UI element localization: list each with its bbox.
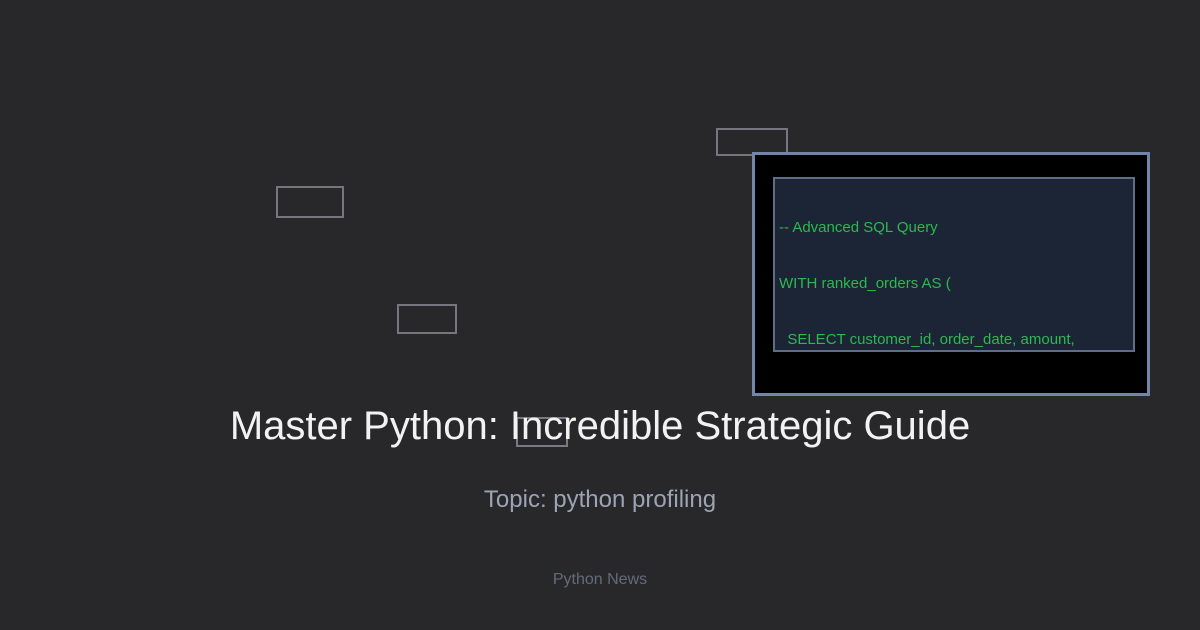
page-subtitle: Topic: python profiling [0, 483, 1200, 517]
page-title: Master Python: Incredible Strategic Guid… [0, 398, 1200, 454]
deco-rect-upper-left [276, 186, 344, 218]
code-line: -- Advanced SQL Query [779, 218, 1135, 238]
code-panel: -- Advanced SQL Query WITH ranked_orders… [773, 177, 1135, 352]
code-window: -- Advanced SQL Query WITH ranked_orders… [752, 152, 1150, 396]
page-footer: Python News [0, 569, 1200, 591]
code-line: SELECT customer_id, order_date, amount, [779, 330, 1135, 350]
code-block: -- Advanced SQL Query WITH ranked_orders… [779, 182, 1135, 352]
code-line: WITH ranked_orders AS ( [779, 274, 1135, 294]
slide-canvas: -- Advanced SQL Query WITH ranked_orders… [0, 0, 1200, 630]
deco-rect-mid-left [397, 304, 457, 334]
